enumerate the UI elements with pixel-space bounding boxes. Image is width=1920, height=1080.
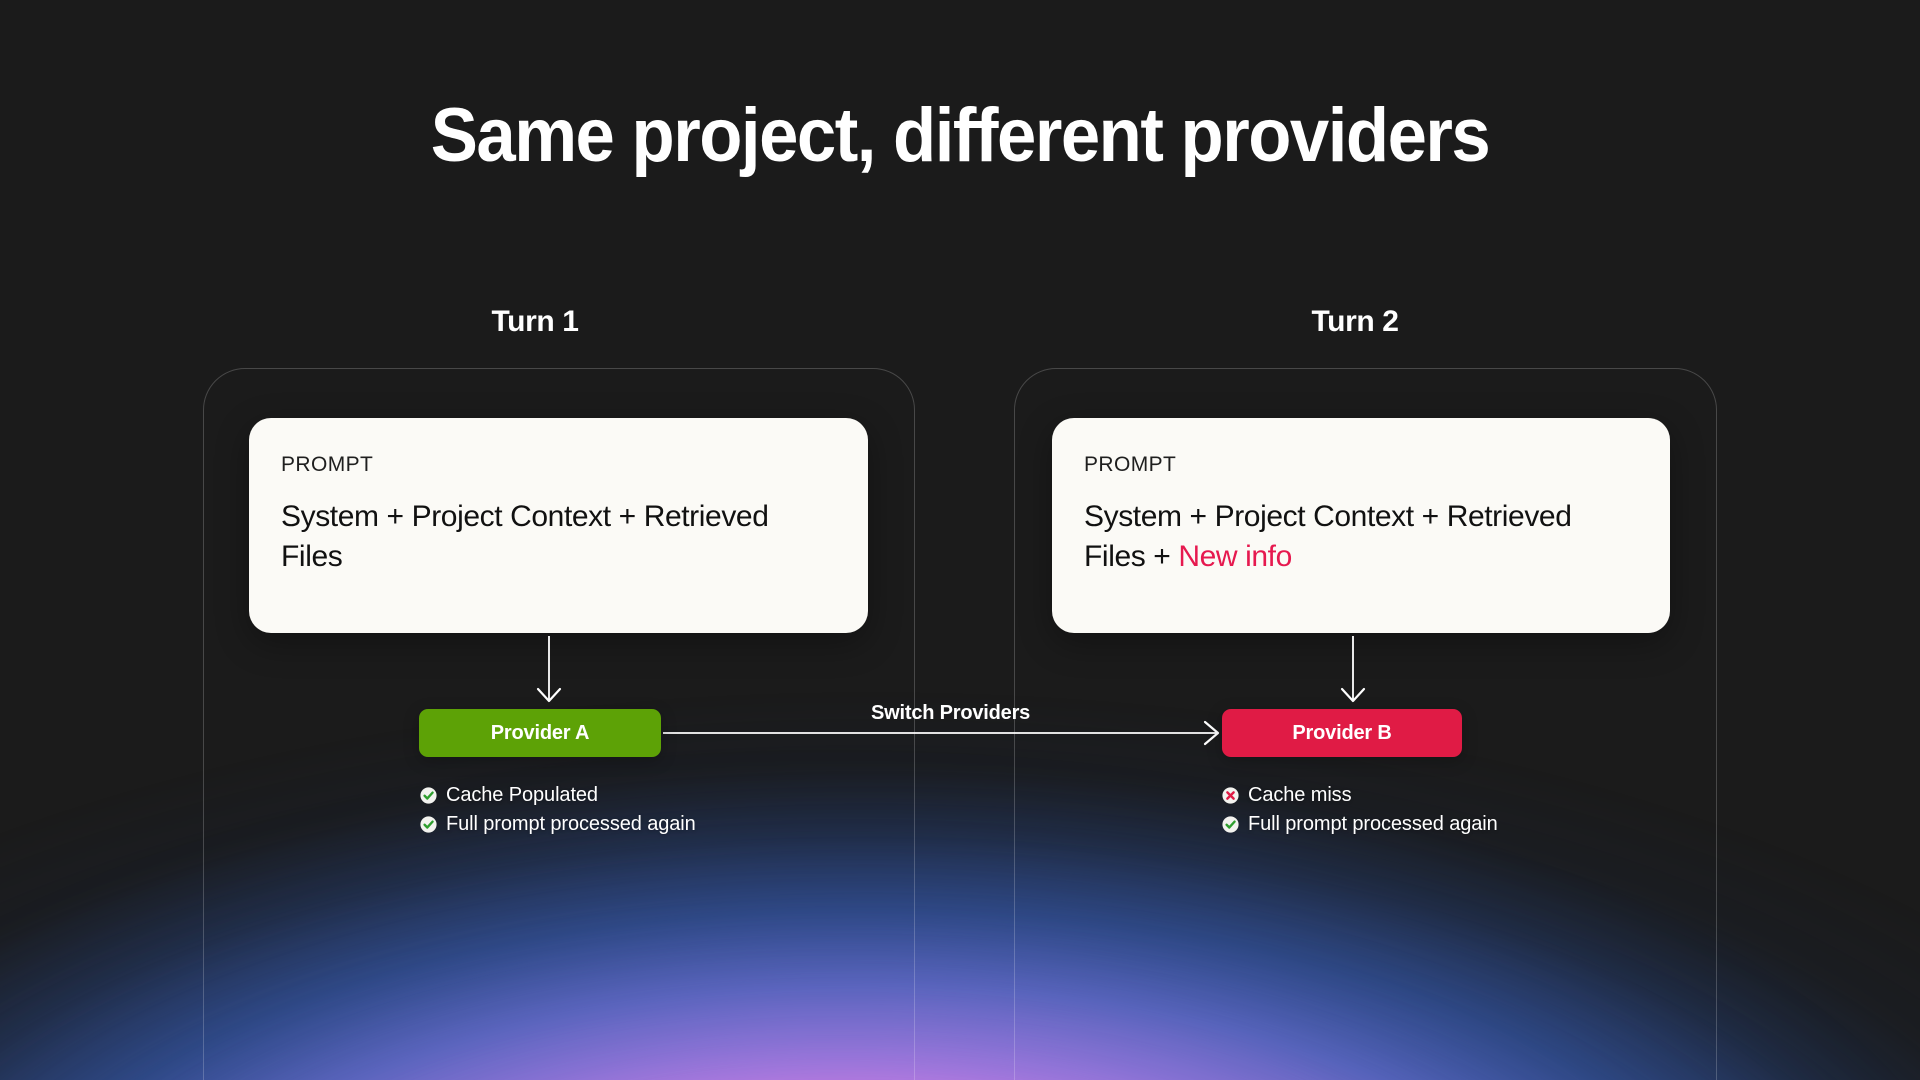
switch-providers-label: Switch Providers bbox=[871, 702, 1030, 725]
prompt-body-accent: New info bbox=[1178, 540, 1292, 573]
provider-a-label: Provider A bbox=[491, 722, 589, 745]
provider-b-node[interactable]: Provider B bbox=[1222, 709, 1462, 757]
x-circle-icon bbox=[1222, 787, 1239, 804]
check-circle-icon bbox=[420, 816, 437, 833]
prompt-body: System + Project Context + Retrieved Fil… bbox=[281, 497, 836, 577]
check-circle-icon bbox=[420, 787, 437, 804]
prompt-body: System + Project Context + Retrieved Fil… bbox=[1084, 497, 1638, 577]
page-title: Same project, different providers bbox=[67, 98, 1853, 174]
status-item: Cache Populated bbox=[420, 784, 696, 807]
prompt-body-text: System + Project Context + Retrieved Fil… bbox=[281, 500, 769, 573]
status-item: Full prompt processed again bbox=[1222, 813, 1498, 836]
turn-1-status-list: Cache Populated Full prompt processed ag… bbox=[420, 784, 696, 836]
diagram-canvas: Same project, different providers Turn 1… bbox=[0, 0, 1920, 1080]
prompt-body-text: System + Project Context + Retrieved Fil… bbox=[1084, 500, 1572, 573]
turn-1-heading: Turn 1 bbox=[455, 305, 615, 339]
status-item: Cache miss bbox=[1222, 784, 1498, 807]
status-label: Cache Populated bbox=[446, 784, 598, 807]
check-circle-icon bbox=[1222, 816, 1239, 833]
turn-2-prompt-card: PROMPT System + Project Context + Retrie… bbox=[1052, 418, 1670, 633]
turn-1-prompt-card: PROMPT System + Project Context + Retrie… bbox=[249, 418, 868, 633]
status-label: Full prompt processed again bbox=[446, 813, 696, 836]
status-item: Full prompt processed again bbox=[420, 813, 696, 836]
turn-2-status-list: Cache miss Full prompt processed again bbox=[1222, 784, 1498, 836]
prompt-kicker: PROMPT bbox=[281, 454, 836, 475]
provider-a-node[interactable]: Provider A bbox=[419, 709, 661, 757]
status-label: Cache miss bbox=[1248, 784, 1351, 807]
status-label: Full prompt processed again bbox=[1248, 813, 1498, 836]
prompt-kicker: PROMPT bbox=[1084, 454, 1638, 475]
provider-b-label: Provider B bbox=[1292, 722, 1391, 745]
turn-2-heading: Turn 2 bbox=[1275, 305, 1435, 339]
